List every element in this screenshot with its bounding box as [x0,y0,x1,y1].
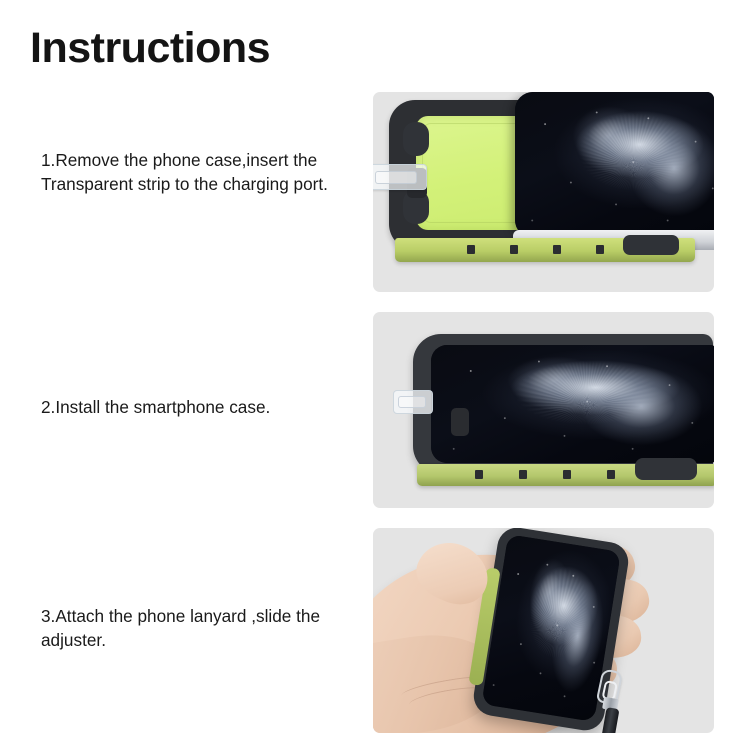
case-screw-icon [553,245,561,254]
smartphone-screen [515,92,714,238]
step-3-illustration [373,528,714,733]
case-screw-icon [467,245,475,254]
page-title: Instructions [30,27,270,70]
case-screw-icon [596,245,604,254]
step-3-image-panel [373,528,714,733]
case-screw-icon [519,470,527,479]
assembled-case-body [413,334,713,474]
step-1-text: 1.Remove the phone case,insert the Trans… [41,148,363,197]
step-1-illustration [373,92,714,292]
transparent-strip [373,164,427,190]
case-screw-icon [510,245,518,254]
case-screw-icon [563,470,571,479]
step-2-image-panel [373,312,714,508]
wave-wallpaper-icon [567,104,700,212]
case-screw-icon [607,470,615,479]
case-latch-knob [635,458,697,480]
step-1-image-panel [373,92,714,292]
step-2-illustration [373,312,714,508]
case-bottom-rail [417,464,714,486]
transparent-strip [393,390,433,414]
wave-wallpaper-icon [499,354,675,441]
case-screw-icon [475,470,483,479]
case-latch-knob [623,235,679,255]
step-3-text: 3.Attach the phone lanyard ,slide the ad… [41,604,363,653]
charging-port-cutout [451,408,469,436]
smartphone-screen [431,345,714,463]
case-corner-bumper-top [403,122,429,156]
case-bottom-rail [395,238,695,262]
step-2-text: 2.Install the smartphone case. [41,395,363,419]
